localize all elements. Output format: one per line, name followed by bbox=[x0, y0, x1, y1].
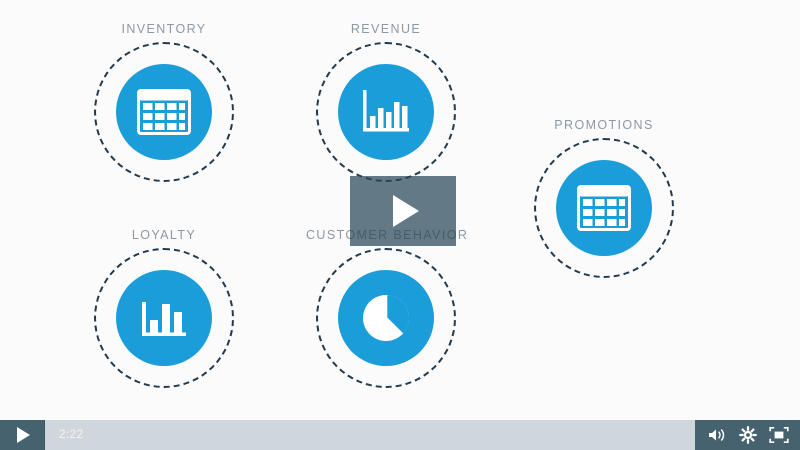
gear-icon bbox=[739, 426, 757, 444]
icon-disc bbox=[338, 64, 434, 160]
volume-button[interactable] bbox=[704, 422, 730, 448]
play-pause-button[interactable] bbox=[0, 420, 45, 450]
node-promotions[interactable]: PROMOTIONS bbox=[524, 118, 684, 278]
node-revenue[interactable]: REVENUE bbox=[306, 22, 466, 182]
time-display: 2:22 bbox=[59, 429, 84, 441]
progress-scrubber[interactable]: 2:22 bbox=[45, 420, 695, 450]
node-label: PROMOTIONS bbox=[524, 118, 684, 132]
player-controls-bar: 2:22 bbox=[0, 420, 800, 450]
dashed-ring bbox=[534, 138, 674, 278]
bar-chart-icon bbox=[138, 294, 190, 342]
dashed-ring bbox=[94, 42, 234, 182]
node-label: REVENUE bbox=[306, 22, 466, 36]
dashed-ring bbox=[316, 42, 456, 182]
pie-chart-icon bbox=[360, 292, 412, 344]
icon-disc bbox=[116, 270, 212, 366]
volume-icon bbox=[707, 427, 727, 443]
fullscreen-button[interactable] bbox=[766, 422, 792, 448]
icon-disc bbox=[116, 64, 212, 160]
video-canvas[interactable]: INVENTORY bbox=[0, 0, 800, 420]
node-customer-behavior[interactable]: CUSTOMER BEHAVIOR bbox=[306, 228, 466, 388]
settings-button[interactable] bbox=[735, 422, 761, 448]
node-inventory[interactable]: INVENTORY bbox=[84, 22, 244, 182]
center-play-button[interactable] bbox=[350, 176, 456, 246]
play-icon bbox=[393, 195, 419, 227]
icon-disc bbox=[338, 270, 434, 366]
table-icon bbox=[577, 185, 631, 231]
table-icon bbox=[137, 89, 191, 135]
video-player: INVENTORY bbox=[0, 0, 800, 450]
node-label: LOYALTY bbox=[84, 228, 244, 242]
bar-chart-icon bbox=[360, 88, 412, 136]
node-loyalty[interactable]: LOYALTY bbox=[84, 228, 244, 388]
dashed-ring bbox=[94, 248, 234, 388]
icon-disc bbox=[556, 160, 652, 256]
dashed-ring bbox=[316, 248, 456, 388]
node-label: INVENTORY bbox=[84, 22, 244, 36]
player-right-controls bbox=[695, 420, 800, 450]
fullscreen-icon bbox=[769, 426, 789, 444]
play-icon bbox=[17, 427, 30, 443]
